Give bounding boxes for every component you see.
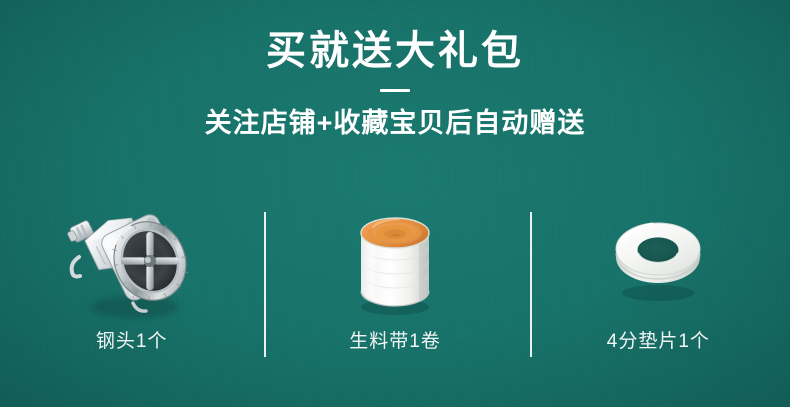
- gift-product-list: 钢头1个: [0, 190, 790, 375]
- banner-subtitle: 关注店铺+收藏宝贝后自动赠送: [0, 92, 790, 140]
- column-separator: [530, 212, 532, 357]
- gift-item-caption: 钢头1个: [96, 330, 168, 354]
- gift-item-steel-head: 钢头1个: [0, 190, 263, 375]
- rubber-washer-ring-icon: [527, 190, 790, 330]
- column-separator: [264, 212, 266, 357]
- gift-item-caption: 4分垫片1个: [607, 330, 710, 354]
- promo-banner: 买就送大礼包 关注店铺+收藏宝贝后自动赠送: [0, 0, 790, 407]
- banner-header: 买就送大礼包 关注店铺+收藏宝贝后自动赠送: [0, 0, 790, 140]
- gift-item-ptfe-tape: 生料带1卷: [263, 190, 526, 375]
- steel-head-fitting-icon: [0, 190, 263, 330]
- gift-item-caption: 生料带1卷: [349, 330, 441, 354]
- gift-item-washer: 4分垫片1个: [527, 190, 790, 375]
- ptfe-tape-roll-icon: [263, 190, 526, 330]
- banner-title: 买就送大礼包: [0, 0, 790, 74]
